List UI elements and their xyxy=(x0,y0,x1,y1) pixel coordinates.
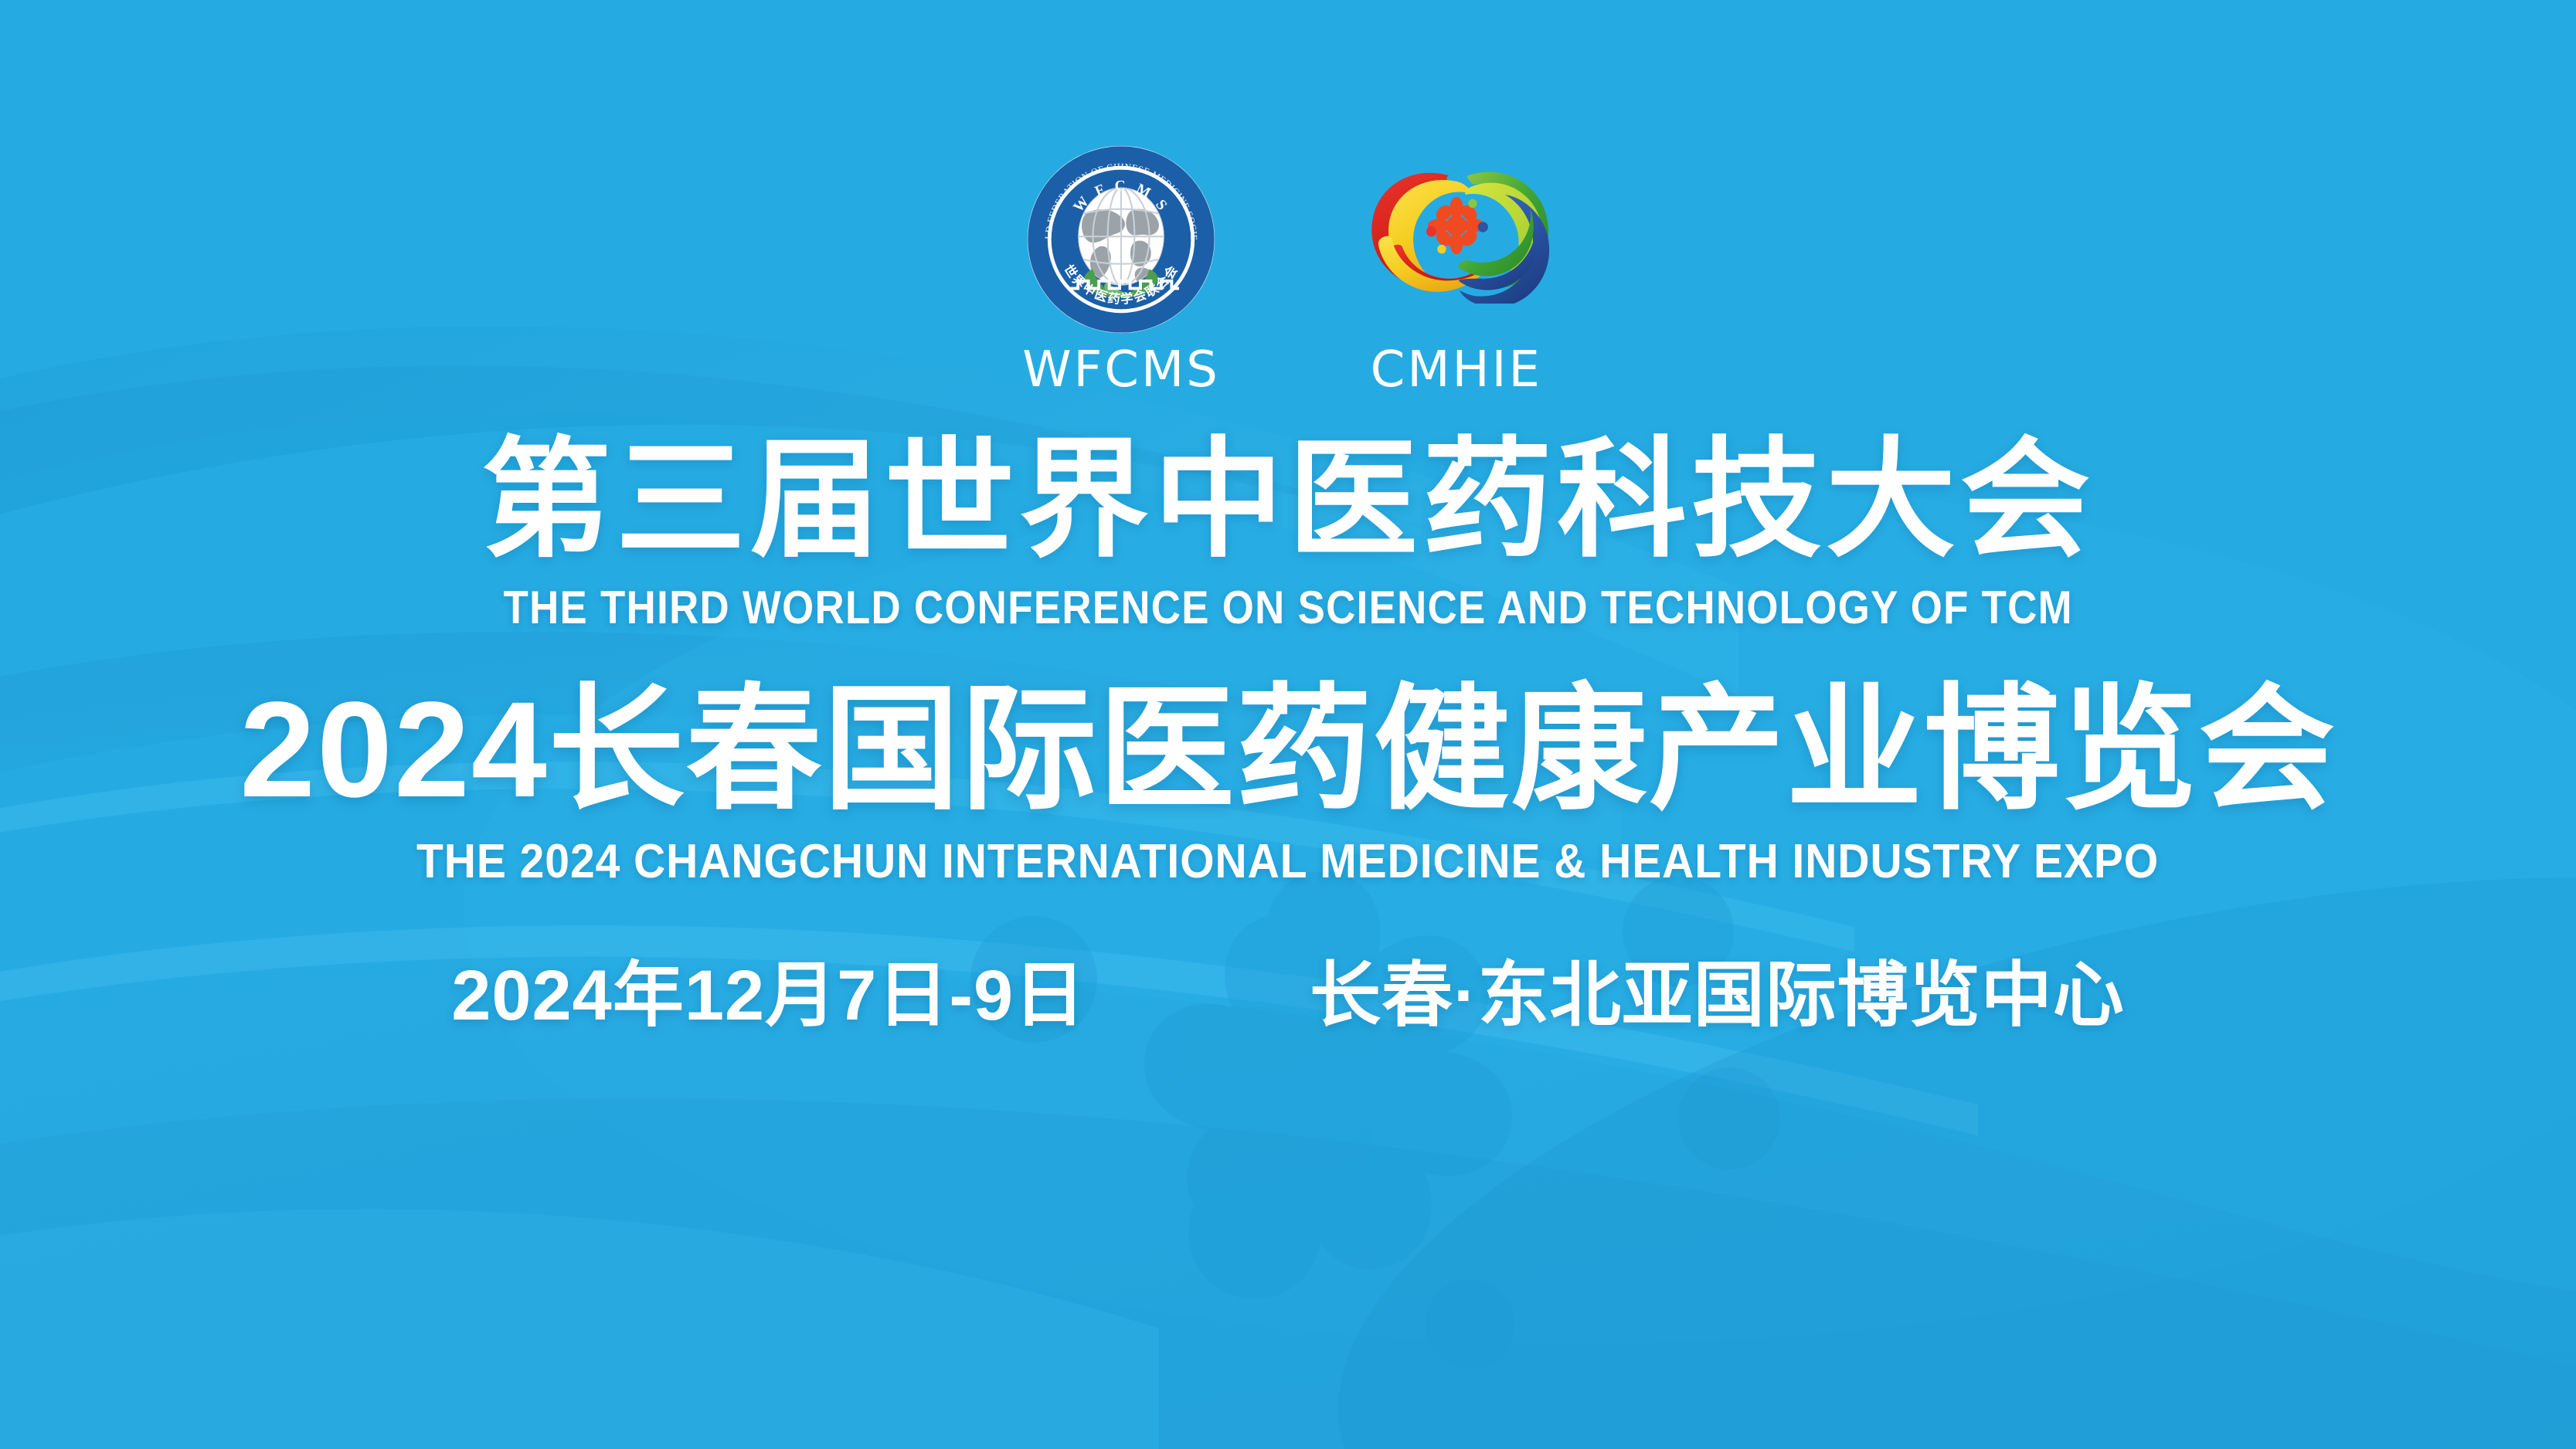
cmhie-ribbon-heart-icon xyxy=(1359,149,1554,304)
center-dot-lime xyxy=(1437,245,1446,253)
conference-title-en: THE THIRD WORLD CONFERENCE ON SCIENCE AN… xyxy=(503,585,2072,631)
wfcms-seal-icon: WORLD FEDERATION OF CHINESE MEDICINE SOC… xyxy=(1025,143,1218,336)
center-dot-blue xyxy=(1477,222,1487,232)
logo-cmhie: CMHIE xyxy=(1359,149,1554,395)
wfcms-wordmark: WFCMS xyxy=(1022,345,1220,395)
event-details-row: 2024年12月7日-9日 长春·东北亚国际博览中心 xyxy=(451,960,2125,1031)
expo-title-en: THE 2024 CHANGCHUN INTERNATIONAL MEDICIN… xyxy=(416,838,2159,886)
conference-banner: WORLD FEDERATION OF CHINESE MEDICINE SOC… xyxy=(0,0,2576,1449)
logo-row: WORLD FEDERATION OF CHINESE MEDICINE SOC… xyxy=(1022,143,1554,395)
conference-title-cn: 第三届世界中医药科技大会 xyxy=(481,435,2095,565)
expo-title-cn: 2024长春国际医药健康产业博览会 xyxy=(240,682,2336,818)
center-dot-green xyxy=(1468,199,1477,208)
center-dot-red xyxy=(1426,226,1436,236)
event-date: 2024年12月7日-9日 xyxy=(451,960,1086,1031)
logo-wfcms: WORLD FEDERATION OF CHINESE MEDICINE SOC… xyxy=(1022,143,1220,395)
cmhie-wordmark: CMHIE xyxy=(1371,345,1542,395)
event-venue: 长春·东北亚国际博览中心 xyxy=(1310,960,2125,1031)
